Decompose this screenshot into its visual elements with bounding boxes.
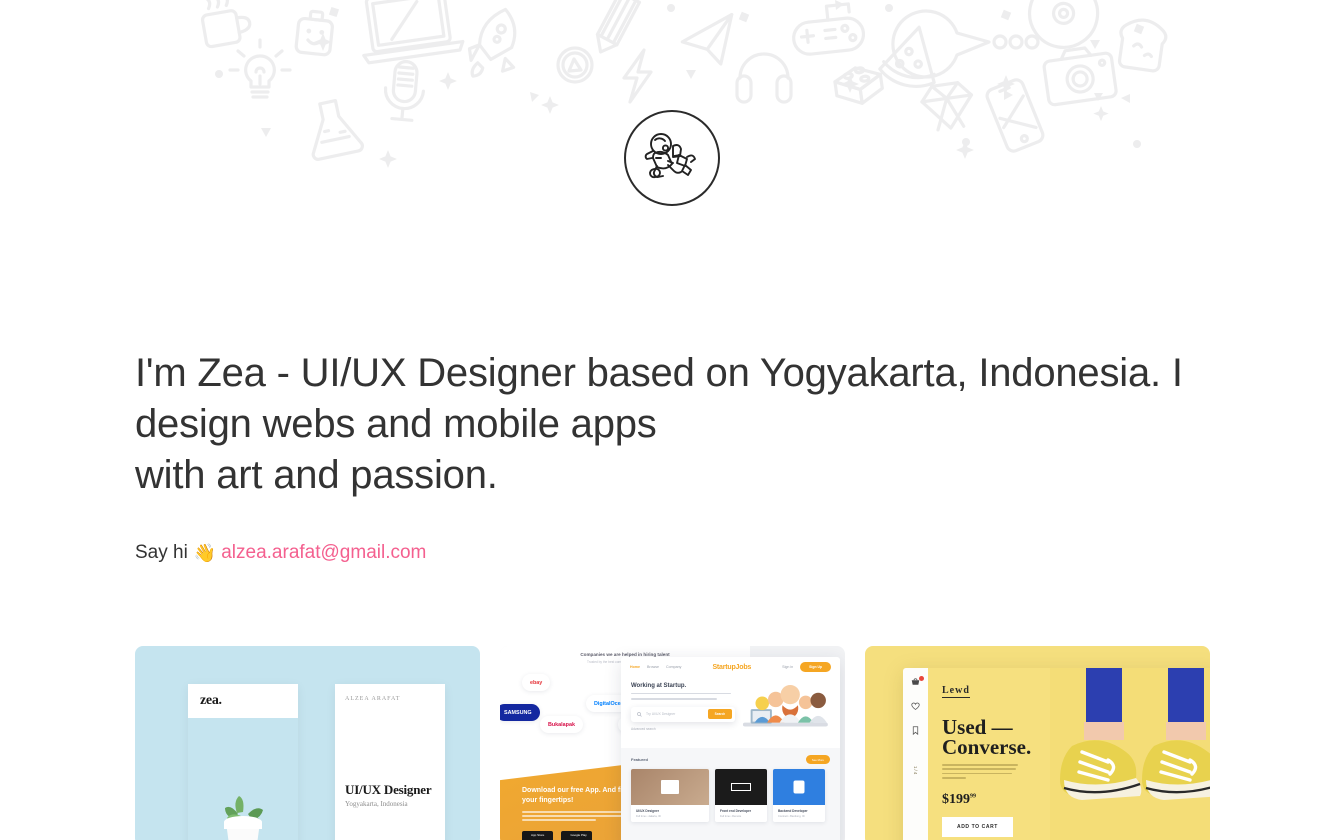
star-icon: [314, 33, 332, 51]
triangle-icon: [686, 70, 696, 79]
business-card-logo: zea.: [200, 693, 222, 709]
cd-icon: [1024, 0, 1103, 53]
star-icon: [439, 72, 457, 90]
laptop-icon: [356, 0, 464, 63]
job-tile-subtitle: Full time • Jakarta, ID: [636, 815, 704, 818]
portfolio-page: I'm Zea - UI/UX Designer based on Yogyak…: [0, 0, 1344, 840]
converse-sidebar: 1/4: [903, 668, 928, 840]
job-tiles: UI/UX Designer Full time • Jakarta, ID F…: [631, 769, 830, 822]
add-to-cart-button[interactable]: ADD TO CART: [942, 817, 1013, 837]
dot-icon: [215, 70, 223, 78]
triangle-icon: [530, 92, 539, 102]
business-card-role: UI/UX Designer: [345, 782, 431, 798]
job-tile-title: Backend Developer: [778, 809, 820, 813]
job-search-input[interactable]: Try UI/UX Designer: [646, 712, 704, 716]
job-tile-title: Front end Developer: [720, 809, 762, 813]
pencil-icon: [591, 0, 640, 57]
pacman-icon: [893, 11, 989, 77]
company-logo-samsung: SAMSUNG: [500, 704, 540, 721]
advanced-search-link[interactable]: Advanced search: [631, 727, 735, 731]
search-icon: [637, 712, 642, 717]
square-icon: [1001, 10, 1011, 20]
startupjobs-hero: Working at Startup. Try UI/UX Designer S…: [621, 677, 840, 741]
pacman-dot-icon: [1026, 36, 1038, 48]
pizza-icon: [878, 20, 947, 91]
lego-brick-icon: [833, 65, 884, 107]
converse-browser-mockup: 1/4 Lewd Used — Converse. $19999 ADD TO …: [903, 668, 1210, 840]
pacman-dot-icon: [994, 36, 1006, 48]
appstore-button[interactable]: App Store: [522, 831, 553, 840]
featured-label: Featured: [631, 757, 648, 762]
project-card-business-cards[interactable]: zea. ALZEA ARAFAT UI/UX De: [135, 646, 480, 840]
say-hi-label: Say hi: [135, 540, 188, 566]
sneakers-photo: [1050, 668, 1210, 840]
nav-item-home[interactable]: Home: [630, 665, 640, 669]
team-illustration: [741, 683, 830, 741]
company-logo-ebay: ebay: [522, 674, 550, 691]
cart-icon[interactable]: [911, 678, 920, 689]
page-title: I'm Zea - UI/UX Designer based on Yogyak…: [135, 348, 1215, 501]
cart-badge: [919, 676, 924, 681]
bookmark-icon[interactable]: [911, 726, 920, 737]
project-card-startupjobs[interactable]: Companies we are helped in hiring talent…: [500, 646, 845, 840]
dot-icon: [740, 13, 748, 21]
headphones-icon: [737, 54, 791, 102]
lego-head-icon: [296, 10, 334, 55]
converse-brand: Lewd: [942, 685, 970, 698]
signup-button[interactable]: Sign Up: [800, 662, 831, 672]
business-card-name: ALZEA ARAFAT: [345, 696, 400, 702]
triangle-icon: [1004, 90, 1013, 100]
job-tile-title: UI/UX Designer: [636, 809, 704, 813]
plant-illustration: [208, 792, 278, 840]
job-tile-subtitle: Full time • Remote: [720, 815, 762, 818]
star-icon: [841, 75, 859, 93]
converse-description: [942, 764, 1018, 779]
company-logo-bukalapak: Bukalapak: [540, 716, 583, 733]
startupjobs-front-page: Home Browse Company StartupJobs Sign in …: [621, 657, 840, 840]
star-icon: [997, 75, 1015, 93]
email-link[interactable]: alzea.arafat@gmail.com: [221, 540, 426, 566]
hero-content: I'm Zea - UI/UX Designer based on Yogyak…: [135, 348, 1215, 566]
heart-icon[interactable]: [911, 702, 920, 713]
pacman-dot-icon: [1010, 36, 1022, 48]
job-search-button[interactable]: Search: [708, 709, 733, 719]
featured-see-more-button[interactable]: See More: [806, 755, 830, 764]
contact-row: Say hi 👋 alzea.arafat@gmail.com: [135, 540, 1215, 566]
rocket-icon: [464, 4, 525, 84]
lightbulb-icon: [230, 40, 290, 97]
startupjobs-brand: StartupJobs: [712, 664, 751, 671]
triangle-icon: [1121, 94, 1130, 103]
astronaut-logo[interactable]: [624, 110, 720, 206]
camera-icon: [1042, 45, 1117, 106]
nav-item-company[interactable]: Company: [666, 665, 681, 669]
square-icon: [329, 7, 339, 17]
project-card-converse[interactable]: 1/4 Lewd Used — Converse. $19999 ADD TO …: [865, 646, 1210, 840]
googleplay-button[interactable]: Google Play: [561, 831, 592, 840]
business-card-location: Yogyakarta, Indonesia: [345, 800, 408, 808]
startupjobs-navbar: Home Browse Company StartupJobs Sign in …: [621, 657, 840, 677]
square-icon: [739, 12, 749, 22]
mug-icon: [199, 0, 253, 47]
gamepad-icon: [791, 3, 865, 56]
triangle-icon: [835, 0, 844, 10]
featured-jobs-section: Featured See More UI/UX Designer Full ti…: [621, 748, 840, 840]
nav-item-browse[interactable]: Browse: [647, 665, 659, 669]
dot-icon: [667, 4, 675, 12]
triangle-icon: [1090, 40, 1100, 49]
job-tile[interactable]: Front end Developer Full time • Remote: [715, 769, 767, 822]
converse-main: Lewd Used — Converse. $19999 ADD TO CART: [928, 668, 1210, 840]
compass-icon: [558, 48, 592, 82]
bread-icon: [1116, 17, 1168, 72]
hero-title: Working at Startup.: [631, 683, 735, 689]
signin-link[interactable]: Sign in: [782, 665, 793, 669]
triangle-icon: [1094, 93, 1103, 101]
job-tile[interactable]: UI/UX Designer Full time • Jakarta, ID: [631, 769, 709, 822]
astronaut-icon: [641, 127, 703, 189]
project-cards: zea. ALZEA ARAFAT UI/UX De: [135, 646, 1210, 840]
square-icon: [1134, 24, 1144, 34]
job-tile[interactable]: Backend Developer Contract • Bandung, ID: [773, 769, 825, 822]
pagination-indicator: 1/4: [913, 766, 918, 775]
job-search-bar[interactable]: Try UI/UX Designer Search: [631, 707, 735, 722]
business-card-back: ALZEA ARAFAT UI/UX Designer Yogyakarta, …: [335, 684, 445, 840]
wave-hand-icon: 👋: [194, 540, 216, 566]
paper-plane-icon: [680, 15, 737, 68]
dot-icon: [885, 4, 893, 12]
business-card-front: zea.: [188, 684, 298, 840]
job-tile-subtitle: Contract • Bandung, ID: [778, 815, 820, 818]
logo-container[interactable]: [0, 110, 1344, 206]
lightning-icon: [624, 50, 651, 102]
